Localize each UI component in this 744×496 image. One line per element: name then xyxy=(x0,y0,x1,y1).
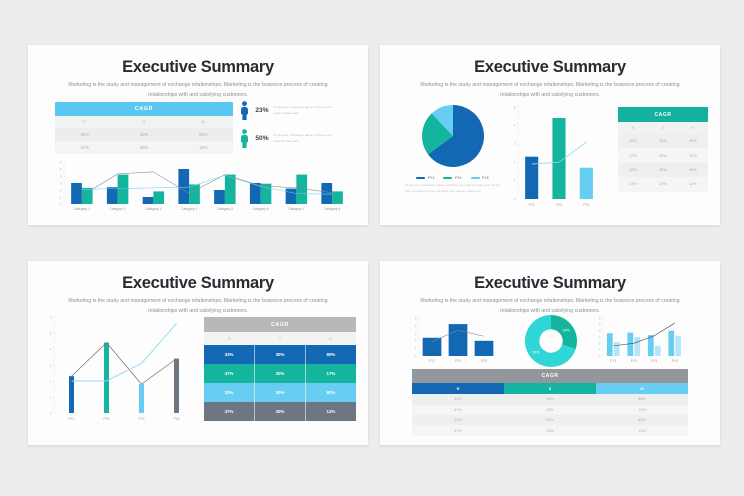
legend-swatch xyxy=(471,177,480,179)
table-row: 47% 20% 12% xyxy=(618,177,708,191)
column-header-m: M xyxy=(174,116,233,128)
column-header-s: S xyxy=(114,116,173,128)
legend-label: FY3 xyxy=(482,176,489,180)
cell: 12% xyxy=(596,425,688,435)
cell: 47% xyxy=(412,425,504,435)
cagr-table-slide2: CAGR R S M 32% 30% 80% 47% 20% 12% 32% 3… xyxy=(618,107,708,192)
svg-text:Category 7: Category 7 xyxy=(288,207,304,211)
cell: 12% xyxy=(174,141,233,154)
people-stats: 23% To get your company's name out there… xyxy=(238,101,356,157)
svg-text:70%: 70% xyxy=(532,350,540,354)
pie-legend: FY1 FY2 FY3 To get your company's name o… xyxy=(400,174,505,194)
svg-text:3: 3 xyxy=(60,181,62,185)
slide-deck-canvas: Executive Summary Marketing is the study… xyxy=(0,0,744,496)
cell: 12% xyxy=(305,402,356,421)
svg-text:5: 5 xyxy=(50,331,52,335)
person-icon xyxy=(238,129,251,148)
column-header-s: S xyxy=(648,122,678,134)
svg-text:0: 0 xyxy=(514,197,516,201)
svg-text:4: 4 xyxy=(415,324,417,328)
svg-text:1: 1 xyxy=(50,395,52,399)
svg-text:Category 1: Category 1 xyxy=(74,207,90,211)
page-title: Executive Summary xyxy=(380,274,720,293)
page-subtitle: Marketing is the study and management of… xyxy=(416,81,684,100)
svg-text:6: 6 xyxy=(60,160,62,164)
legend-label: FY1 xyxy=(428,176,435,180)
cell: 80% xyxy=(305,383,356,402)
legend-label: FY2 xyxy=(455,176,462,180)
slide-1[interactable]: Executive Summary Marketing is the study… xyxy=(28,45,368,225)
svg-text:1: 1 xyxy=(415,347,417,351)
svg-text:4: 4 xyxy=(50,347,52,351)
legend-item: FY1 xyxy=(416,176,434,180)
svg-text:5: 5 xyxy=(60,167,62,171)
svg-text:FY2: FY2 xyxy=(631,359,637,363)
column-header-s: S xyxy=(255,332,306,345)
cell: 30% xyxy=(255,383,306,402)
cell: 32% xyxy=(618,163,648,177)
column-header-m: M xyxy=(596,383,688,394)
cell: 30% xyxy=(255,345,306,364)
column-header-r: R xyxy=(204,332,255,345)
cell: 80% xyxy=(174,128,233,141)
cell: 20% xyxy=(648,148,678,162)
bar-chart-slide2: 012345FY1FY2FY3 xyxy=(506,103,606,213)
cell: 32% xyxy=(412,394,504,404)
svg-text:FY1: FY1 xyxy=(429,359,435,363)
cell: 30% xyxy=(114,128,173,141)
svg-text:2: 2 xyxy=(60,188,62,192)
table-row: 47% 20% 12% xyxy=(412,405,688,415)
person-note: To get your company's name out there you… xyxy=(273,105,335,116)
person-note: To get your company's name out there you… xyxy=(273,133,335,144)
cagr-header: CAGR xyxy=(55,102,233,116)
cell: 20% xyxy=(504,425,596,435)
cagr-header: CAGR xyxy=(204,317,356,332)
svg-text:1: 1 xyxy=(514,179,516,183)
person-percent: 23% xyxy=(251,107,273,114)
svg-text:6: 6 xyxy=(50,315,52,319)
legend-swatch xyxy=(416,177,425,179)
column-header-r: R xyxy=(55,116,114,128)
bar-chart-slide1: 0123456Category 1Category 2Category 3Cat… xyxy=(50,158,358,218)
cell: 47% xyxy=(618,148,648,162)
cell: 30% xyxy=(648,134,678,148)
page-title: Executive Summary xyxy=(380,58,720,77)
cell: 47% xyxy=(618,177,648,191)
svg-text:6: 6 xyxy=(599,316,601,320)
cell: 32% xyxy=(204,345,255,364)
svg-text:FY1: FY1 xyxy=(68,417,74,421)
slide-3[interactable]: Executive Summary Marketing is the study… xyxy=(28,261,368,445)
person-icon xyxy=(238,101,251,120)
column-header-r: R xyxy=(412,383,504,394)
cell: 47% xyxy=(204,364,255,383)
cell: 80% xyxy=(678,163,708,177)
person-stat-row: 23% To get your company's name out there… xyxy=(238,101,356,120)
table-header-row: R S M xyxy=(55,116,233,128)
svg-text:1: 1 xyxy=(60,195,62,199)
table-row: 32% 30% 80% xyxy=(618,163,708,177)
cell: 32% xyxy=(55,128,114,141)
cell: 12% xyxy=(678,148,708,162)
page-title: Executive Summary xyxy=(28,58,368,77)
svg-text:4: 4 xyxy=(60,174,62,178)
svg-text:0: 0 xyxy=(415,354,417,358)
table-row: 47% 20% 12% xyxy=(55,141,233,154)
svg-text:FY1: FY1 xyxy=(529,203,535,207)
cell: 20% xyxy=(504,405,596,415)
donut-chart-slide4: 30%70% xyxy=(520,313,582,371)
svg-text:FY2: FY2 xyxy=(103,417,109,421)
svg-text:1: 1 xyxy=(599,348,601,352)
legend-item: FY3 xyxy=(471,176,489,180)
table-row: 32% 30% 80% xyxy=(55,128,233,141)
cagr-table-slide3: CAGR R S M 32% 30% 80% 47% 20% 17% 33% 3… xyxy=(204,317,356,421)
svg-text:FY1: FY1 xyxy=(610,359,616,363)
svg-text:3: 3 xyxy=(599,335,601,339)
table-header-row: R S M xyxy=(618,122,708,134)
svg-text:Category 2: Category 2 xyxy=(110,207,126,211)
svg-text:2: 2 xyxy=(50,379,52,383)
svg-text:5: 5 xyxy=(599,323,601,327)
cell: 33% xyxy=(412,415,504,425)
svg-text:FY2: FY2 xyxy=(455,359,461,363)
svg-text:FY3: FY3 xyxy=(583,203,589,207)
svg-text:3: 3 xyxy=(50,363,52,367)
svg-text:30%: 30% xyxy=(563,328,571,332)
cell: 80% xyxy=(596,394,688,404)
cell: 47% xyxy=(204,402,255,421)
cagr-table-slide4: CAGR R S M 32% 30% 80% 47% 20% 12% 33% 3… xyxy=(412,369,688,436)
svg-text:FY3: FY3 xyxy=(651,359,657,363)
svg-text:5: 5 xyxy=(514,105,516,109)
cagr-header: CAGR xyxy=(618,107,708,122)
table-row: 33% 30% 80% xyxy=(204,383,356,402)
svg-text:Category 3: Category 3 xyxy=(145,207,161,211)
table-row: 47% 20% 12% xyxy=(204,402,356,421)
svg-text:3: 3 xyxy=(415,332,417,336)
bar-line-chart-slide3: 0123456FY1FY2FY3FY4 xyxy=(40,313,205,428)
svg-text:2: 2 xyxy=(415,339,417,343)
svg-text:5: 5 xyxy=(415,316,417,320)
column-header-m: M xyxy=(305,332,356,345)
svg-text:2: 2 xyxy=(599,342,601,346)
svg-text:0: 0 xyxy=(599,354,601,358)
table-header-row: R S M xyxy=(204,332,356,345)
svg-text:FY3: FY3 xyxy=(481,359,487,363)
cell: 17% xyxy=(305,364,356,383)
cell: 20% xyxy=(255,364,306,383)
legend-item: FY2 xyxy=(443,176,461,180)
svg-text:4: 4 xyxy=(514,124,516,128)
svg-text:Category 6: Category 6 xyxy=(253,207,269,211)
svg-text:4: 4 xyxy=(599,329,601,333)
person-percent: 50% xyxy=(251,135,273,142)
svg-text:Category 4: Category 4 xyxy=(181,207,197,211)
page-subtitle: Marketing is the study and management of… xyxy=(64,81,332,100)
column-header-s: S xyxy=(504,383,596,394)
svg-text:FY2: FY2 xyxy=(556,203,562,207)
svg-text:0: 0 xyxy=(60,202,62,206)
slide-2[interactable]: Executive Summary Marketing is the study… xyxy=(380,45,720,225)
grouped-bar-chart-slide4: 0123456FY1FY2FY3FY4 xyxy=(592,315,692,368)
svg-text:Category 8: Category 8 xyxy=(324,207,340,211)
table-row: 32% 30% 80% xyxy=(618,134,708,148)
cell: 30% xyxy=(504,394,596,404)
svg-text:FY3: FY3 xyxy=(138,417,144,421)
svg-text:3: 3 xyxy=(514,142,516,146)
column-header-r: R xyxy=(618,122,648,134)
column-header-m: M xyxy=(678,122,708,134)
cell: 30% xyxy=(504,415,596,425)
cell: 80% xyxy=(305,345,356,364)
cell: 33% xyxy=(204,383,255,402)
cell: 20% xyxy=(255,402,306,421)
svg-text:2: 2 xyxy=(514,161,516,165)
cell: 32% xyxy=(618,134,648,148)
cagr-table-slide1: CAGR R S M 32% 30% 80% 47% 20% 12% xyxy=(55,102,233,154)
table-row: 47% 20% 12% xyxy=(618,148,708,162)
cell: 47% xyxy=(412,405,504,415)
table-row: 47% 20% 12% xyxy=(412,425,688,435)
cell: 12% xyxy=(678,177,708,191)
cell: 80% xyxy=(596,415,688,425)
svg-text:FY4: FY4 xyxy=(173,417,179,421)
table-row: 32% 30% 80% xyxy=(412,394,688,404)
cell: 30% xyxy=(648,163,678,177)
svg-text:FY4: FY4 xyxy=(672,359,678,363)
svg-text:0: 0 xyxy=(50,411,52,415)
legend-note: To get your company's name out there you… xyxy=(405,183,500,194)
cagr-header: CAGR xyxy=(412,369,688,383)
cell: 80% xyxy=(678,134,708,148)
svg-text:Category 5: Category 5 xyxy=(217,207,233,211)
table-row: 32% 30% 80% xyxy=(204,345,356,364)
cell: 12% xyxy=(596,405,688,415)
person-stat-row: 50% To get your company's name out there… xyxy=(238,129,356,148)
page-title: Executive Summary xyxy=(28,274,368,293)
slide-4[interactable]: Executive Summary Marketing is the study… xyxy=(380,261,720,445)
table-row: 33% 30% 80% xyxy=(412,415,688,425)
pie-chart-slide2 xyxy=(414,103,492,173)
table-header-row: R S M xyxy=(412,383,688,394)
table-row: 47% 20% 17% xyxy=(204,364,356,383)
cell: 20% xyxy=(648,177,678,191)
cell: 20% xyxy=(114,141,173,154)
legend-swatch xyxy=(443,177,452,179)
bar-chart-slide4: 012345FY1FY2FY3 xyxy=(408,315,504,368)
cell: 47% xyxy=(55,141,114,154)
